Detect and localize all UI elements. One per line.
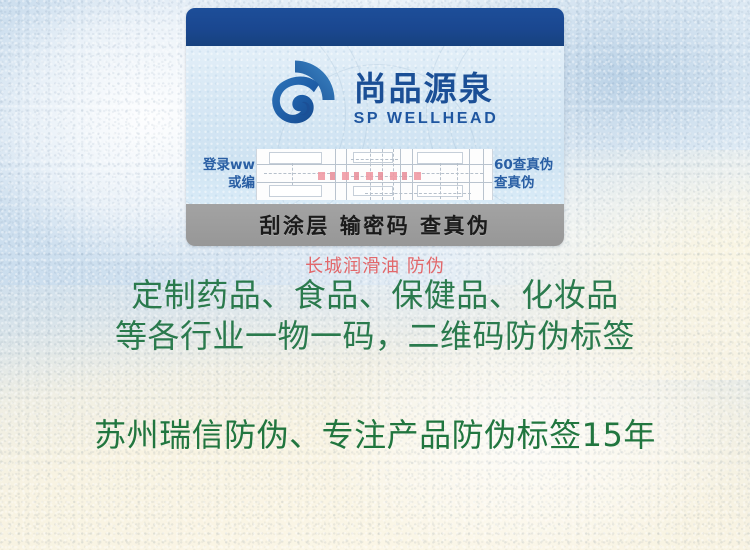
- instruction-text: 刮涂层 输密码 查真伪: [186, 204, 564, 246]
- brand-row: 尚品源泉 SP WELLHEAD: [186, 52, 564, 148]
- code-right-line-2: 查真伪: [494, 175, 556, 193]
- security-label-card: 尚品源泉 SP WELLHEAD 登录ww 或编: [186, 8, 564, 246]
- green-caption-line-3: 苏州瑞信防伪、专注产品防伪标签15年: [0, 410, 750, 456]
- spiral-wave-logo-icon: [252, 57, 338, 143]
- faded-code-marks: [318, 172, 421, 180]
- code-row: 登录ww 或编: [186, 147, 564, 202]
- card-body: 尚品源泉 SP WELLHEAD 登录ww 或编: [186, 46, 564, 204]
- image-canvas: 尚品源泉 SP WELLHEAD 登录ww 或编: [0, 0, 750, 550]
- code-left-line-2: 或编: [195, 175, 255, 193]
- scratch-off-code-area[interactable]: [256, 149, 493, 200]
- green-caption-line-1: 定制药品、食品、保健品、化妆品: [0, 275, 750, 316]
- brand-text: 尚品源泉 SP WELLHEAD: [354, 72, 499, 129]
- green-caption-block: 定制药品、食品、保健品、化妆品 等各行业一物一码，二维码防伪标签: [0, 275, 750, 357]
- card-instruction-bar: 刮涂层 输密码 查真伪: [186, 204, 564, 246]
- code-left-line-1: 登录ww: [195, 157, 255, 175]
- card-top-blue-bar: [186, 8, 564, 46]
- brand-name-en: SP WELLHEAD: [354, 110, 499, 128]
- green-caption-line-2: 等各行业一物一码，二维码防伪标签: [0, 316, 750, 357]
- brand-name-cn: 尚品源泉: [354, 72, 499, 107]
- code-right-line-1: 60查真伪: [494, 157, 556, 175]
- code-left-text: 登录ww 或编: [186, 157, 255, 193]
- code-right-text: 60查真伪 查真伪: [494, 157, 564, 193]
